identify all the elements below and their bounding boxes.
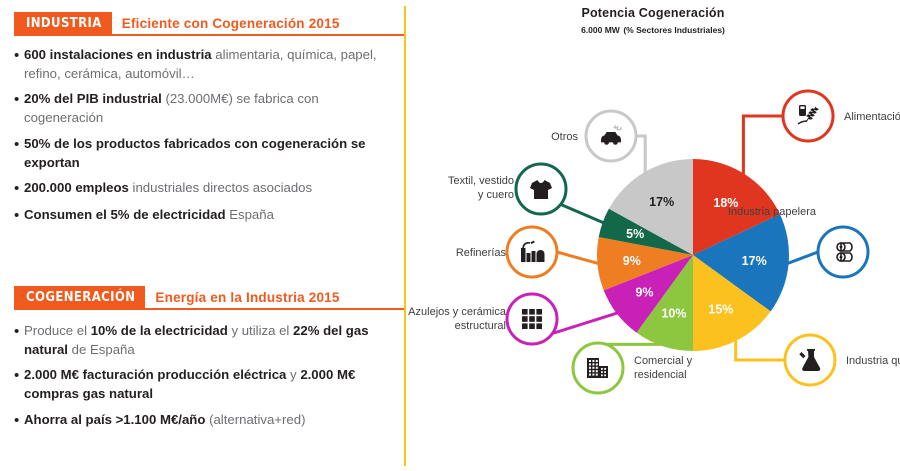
list-item: • Consumen el 5% de electricidad España: [14, 206, 386, 226]
slice-value-label: 17%: [649, 195, 674, 209]
list-item: • 600 instalaciones en industria aliment…: [14, 46, 386, 83]
category-label: Industria química: [846, 355, 900, 367]
category-node-tiles-icon[interactable]: [507, 294, 557, 344]
bullet-dot: •: [14, 322, 24, 342]
connector-line: [743, 116, 783, 176]
bullet-text: 600 instalaciones en industria alimentar…: [24, 46, 386, 83]
category-label: y cuero: [478, 189, 514, 201]
connector-line: [557, 252, 599, 264]
pie-chart-svg: 18%17%15%10%9%9%5%17% AlimentaciónIndust…: [406, 0, 900, 471]
category-label: Industria papelera: [728, 206, 817, 218]
bullet-pre: Produce el: [24, 323, 91, 338]
list-item: • Ahorra al país >1.100 M€/año (alternat…: [14, 411, 386, 431]
list-item: • 2.000 M€ facturación producción eléctr…: [14, 366, 386, 403]
category-label: Textil, vestido: [448, 175, 514, 187]
tiles-icon: [522, 309, 542, 329]
bullet-rest: (alternativa+red): [205, 412, 305, 427]
category-label: Otros: [551, 131, 578, 143]
bullet-text: Consumen el 5% de electricidad España: [24, 206, 386, 225]
category-node-buildings-icon[interactable]: [573, 343, 623, 393]
bullet-strong: 600 instalaciones en industria: [24, 47, 212, 62]
category-label: Alimentación: [844, 111, 900, 123]
bullet-strong: 20% del PIB industrial: [24, 91, 162, 106]
bullet-dot: •: [14, 206, 24, 226]
bullet-mid: y: [286, 367, 300, 382]
section-title-cogeneracion: Energía en la Industria 2015: [145, 286, 349, 308]
bullet-strong: Consumen el 5% de electricidad: [24, 207, 226, 222]
category-node-flask-icon[interactable]: [785, 335, 835, 385]
slice-value-label: 15%: [708, 303, 733, 317]
bullet-dot: •: [14, 90, 24, 110]
bullet-rest: de España: [68, 342, 135, 357]
bullet-dot: •: [14, 135, 24, 155]
bullet-dot: •: [14, 366, 24, 386]
category-node-refinery-icon[interactable]: [507, 227, 557, 277]
bullet-rest: industriales directos asociados: [129, 180, 312, 195]
slice-value-label: 5%: [626, 227, 644, 241]
bullet-dot: •: [14, 411, 24, 431]
chart-panel: Potencia Cogeneración 6.000 MW (% Sector…: [406, 0, 900, 471]
bullet-strong: Ahorra al país >1.100 M€/año: [24, 412, 205, 427]
category-label: residencial: [634, 369, 687, 381]
section-rule-industria: [14, 34, 404, 36]
category-label: Refinerías: [456, 247, 507, 259]
connector-line: [736, 339, 785, 360]
category-node-wheat-icon[interactable]: [783, 91, 833, 141]
section-header-industria: INDUSTRIA Eficiente con Cogeneración 201…: [14, 12, 350, 34]
list-item: • Produce el 10% de la electricidad y ut…: [14, 322, 386, 359]
section-tag-cogeneracion: COGENERACIÓN: [14, 286, 145, 308]
bullet-mid: y utiliza el: [228, 323, 293, 338]
list-item: • 50% de los productos fabricados con co…: [14, 135, 386, 172]
slice-value-label: 17%: [742, 254, 767, 268]
section-title-industria: Eficiente con Cogeneración 2015: [112, 12, 350, 34]
bullet-text: Ahorra al país >1.100 M€/año (alternativ…: [24, 411, 386, 430]
bullet-dot: •: [14, 179, 24, 199]
bullet-dot: •: [14, 46, 24, 66]
connector-line: [636, 136, 645, 174]
bullet-list-industria: • 600 instalaciones en industria aliment…: [14, 46, 386, 232]
bullet-strong: 50% de los productos fabricados con coge…: [24, 136, 366, 170]
bullet-text: Produce el 10% de la electricidad y util…: [24, 322, 386, 359]
category-node-tshirt-icon[interactable]: [516, 164, 566, 214]
bullet-text: 20% del PIB industrial (23.000M€) se fab…: [24, 90, 386, 127]
left-text-panel: INDUSTRIA Eficiente con Cogeneración 201…: [0, 0, 406, 471]
connector-line: [551, 313, 619, 334]
section-rule-cogeneracion: [14, 308, 404, 310]
bullet-strong: 10% de la electricidad: [91, 323, 228, 338]
list-item: • 20% del PIB industrial (23.000M€) se f…: [14, 90, 386, 127]
bullet-text: 200.000 empleos industriales directos as…: [24, 179, 386, 198]
category-label: estructural: [455, 320, 506, 332]
category-label: Azulejos y cerámica: [408, 306, 507, 318]
slice-value-label: 9%: [635, 286, 653, 300]
bullet-strong: 200.000 empleos: [24, 180, 129, 195]
category-node-car-icon[interactable]: [586, 111, 636, 161]
bullet-list-cogeneracion: • Produce el 10% de la electricidad y ut…: [14, 322, 386, 437]
slice-value-label: 9%: [623, 254, 641, 268]
slice-value-label: 10%: [661, 306, 686, 320]
bullet-strong: 2.000 M€ facturación producción eléctric…: [24, 367, 286, 382]
category-node-paper-roll-icon[interactable]: [818, 227, 868, 277]
connector-line: [787, 252, 818, 264]
list-item: • 200.000 empleos industriales directos …: [14, 179, 386, 199]
bullet-text: 50% de los productos fabricados con coge…: [24, 135, 386, 172]
bullet-text: 2.000 M€ facturación producción eléctric…: [24, 366, 386, 403]
section-tag-industria: INDUSTRIA: [14, 12, 112, 34]
bullet-rest: España: [226, 207, 274, 222]
category-label: Comercial y: [634, 355, 693, 367]
section-header-cogeneracion: COGENERACIÓN Energía en la Industria 201…: [14, 286, 350, 308]
connector-line: [560, 204, 605, 223]
